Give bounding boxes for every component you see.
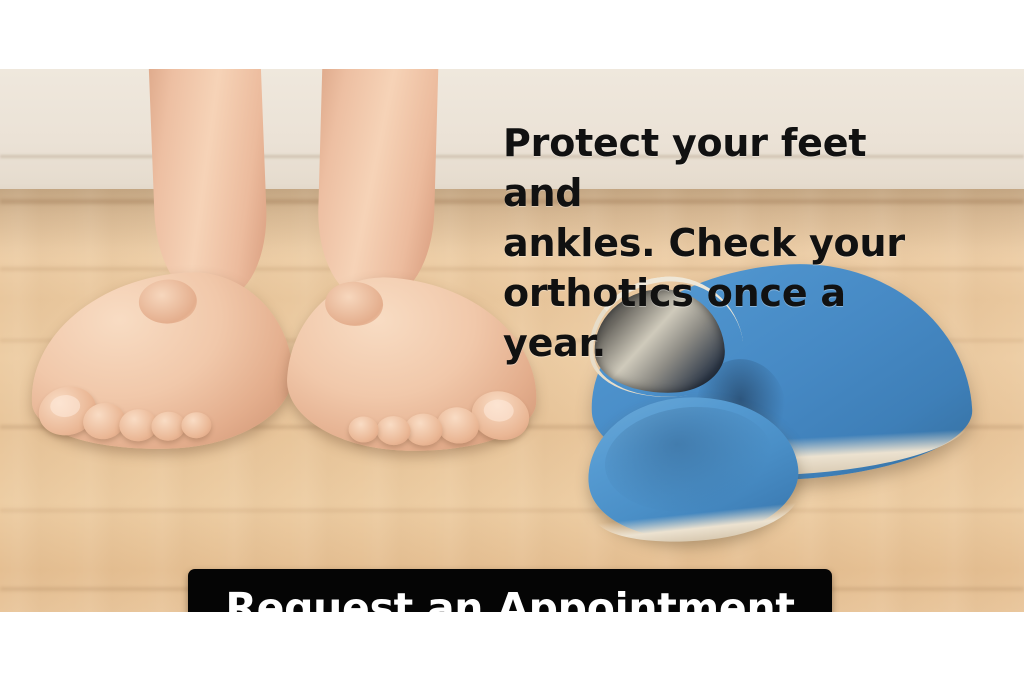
headline: Protect your feet and ankles. Check your… (503, 118, 953, 368)
request-appointment-button[interactable]: Request an Appointment (188, 569, 832, 612)
toe-little-right (348, 416, 379, 444)
headline-line-2: ankles. Check your (503, 218, 953, 268)
toe-fourth-right (376, 415, 411, 446)
left-ankle-bone (138, 278, 198, 325)
headline-line-3: orthotics once a year. (503, 268, 953, 368)
orthotic-insole-lying (581, 386, 806, 557)
right-ankle-bone (324, 280, 384, 327)
floor-plank-seam (0, 509, 1024, 512)
bottom-white-band (0, 612, 1024, 681)
banner-photo: Protect your feet and ankles. Check your… (0, 69, 1024, 612)
promo-banner: Protect your feet and ankles. Check your… (0, 0, 1024, 681)
top-white-band (0, 0, 1024, 69)
right-leg (316, 69, 440, 302)
toe-little-left (181, 411, 212, 439)
headline-line-1: Protect your feet and (503, 118, 953, 218)
